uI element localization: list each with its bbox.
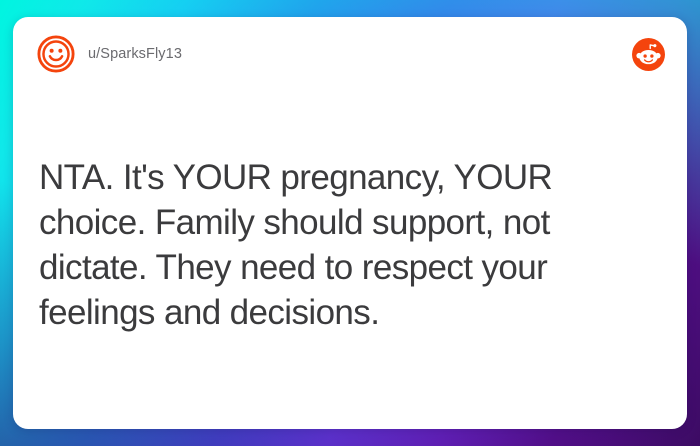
username-label: u/SparksFly13 [88,46,182,62]
comment-header: u/SparksFly13 [13,17,687,91]
reddit-snoo-icon [632,38,665,71]
smiley-face-icon [37,35,75,73]
reddit-comment-card: u/SparksFly13 [13,17,687,429]
avatar[interactable] [37,35,75,73]
gradient-background: u/SparksFly13 [0,0,700,446]
comment-text: NTA. It's YOUR pregnancy, YOUR choice. F… [39,155,653,335]
reddit-logo[interactable] [632,38,665,71]
